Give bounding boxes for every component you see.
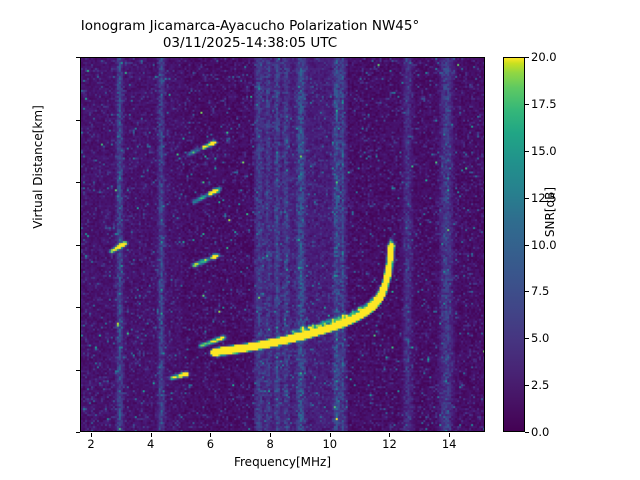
x-tick-label: 12 xyxy=(359,437,419,451)
x-tick-mark xyxy=(91,433,92,437)
x-tick-label: 10 xyxy=(300,437,360,451)
x-tick-label: 6 xyxy=(180,437,240,451)
x-tick-label: 4 xyxy=(121,437,181,451)
y-axis-label: Virtual Distance[km] xyxy=(31,57,45,277)
x-tick-label: 8 xyxy=(240,437,300,451)
y-tick-mark xyxy=(76,370,80,371)
colorbar-tick-mark xyxy=(525,291,529,292)
colorbar-tick-label: 2.5 xyxy=(531,378,549,392)
colorbar xyxy=(503,57,525,432)
colorbar-tick-label: 5.0 xyxy=(531,331,549,345)
x-tick-label: 14 xyxy=(419,437,479,451)
colorbar-tick-mark xyxy=(525,245,529,246)
colorbar-tick-mark xyxy=(525,104,529,105)
x-tick-mark xyxy=(270,433,271,437)
colorbar-tick-label: 20.0 xyxy=(531,50,557,64)
colorbar-tick-mark xyxy=(525,385,529,386)
colorbar-label: SNR[dB] xyxy=(543,132,557,292)
y-tick-mark xyxy=(76,182,80,183)
colorbar-tick-mark xyxy=(525,151,529,152)
x-tick-mark xyxy=(151,433,152,437)
colorbar-tick-mark xyxy=(525,198,529,199)
colorbar-tick-label: 0.0 xyxy=(531,425,549,439)
x-tick-label: 2 xyxy=(61,437,121,451)
colorbar-tick-mark xyxy=(525,338,529,339)
plot-area xyxy=(80,57,485,432)
colorbar-tick-mark xyxy=(525,57,529,58)
x-axis-label: Frequency[MHz] xyxy=(80,455,485,469)
chart-title: Ionogram Jicamarca-Ayacucho Polarization… xyxy=(0,18,500,52)
x-tick-mark xyxy=(389,433,390,437)
x-tick-mark xyxy=(210,433,211,437)
ionogram-figure: Ionogram Jicamarca-Ayacucho Polarization… xyxy=(0,0,640,480)
x-tick-mark xyxy=(449,433,450,437)
x-tick-mark xyxy=(330,433,331,437)
y-tick-mark xyxy=(76,245,80,246)
y-tick-mark xyxy=(76,57,80,58)
colorbar-tick-label: 17.5 xyxy=(531,97,557,111)
y-tick-mark xyxy=(76,120,80,121)
y-tick-mark xyxy=(76,432,80,433)
y-tick-mark xyxy=(76,307,80,308)
ionogram-heatmap-canvas xyxy=(81,58,484,431)
colorbar-tick-mark xyxy=(525,432,529,433)
